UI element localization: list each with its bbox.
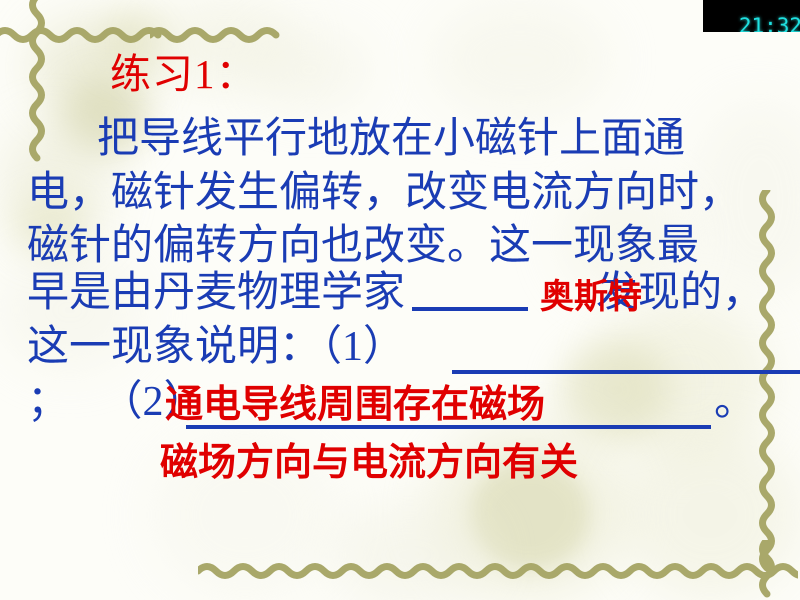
question-line-5: 这一现象说明：（1）	[27, 326, 405, 368]
question-line-3: 磁针的偏转方向也改变。这一现象最	[27, 225, 699, 267]
question-line-6-period: 。	[714, 381, 756, 423]
clock-time-value: 21:32:23	[739, 14, 800, 32]
decorative-border-top-left-horizontal	[0, 22, 166, 44]
decorative-border-bottom-right-stub	[755, 540, 779, 600]
slide-canvas: 88:88:88 21:32:23 练习1： 把导线平行地放在小磁针上面通 电，…	[0, 0, 800, 600]
clock-digits: 88:88:88 21:32:23	[703, 0, 800, 32]
answer-blank-rule-2	[452, 370, 800, 374]
answer-field-direction-depends-on-current: 磁场方向与电流方向有关	[160, 444, 578, 482]
decorative-border-top-left-vertical	[26, 0, 48, 176]
exercise-title: 练习1：	[110, 54, 258, 95]
decorative-border-top-left-horizontal-right	[150, 22, 280, 44]
question-line-2: 电，磁针发生偏转，改变电流方向时，	[27, 172, 741, 214]
answer-blank-rule-1	[412, 307, 528, 311]
led-clock: 88:88:88 21:32:23	[703, 0, 800, 32]
decorative-border-bottom-horizontal	[198, 558, 798, 580]
answer-oersted: 奥斯特	[540, 281, 642, 315]
answer-magnetic-field-around-wire: 通电导线周围存在磁场	[165, 386, 545, 424]
question-line-1: 把导线平行地放在小磁针上面通	[97, 118, 685, 160]
decorative-border-right-vertical	[755, 190, 779, 580]
question-line-4a: 早是由丹麦物理学家	[27, 272, 405, 314]
